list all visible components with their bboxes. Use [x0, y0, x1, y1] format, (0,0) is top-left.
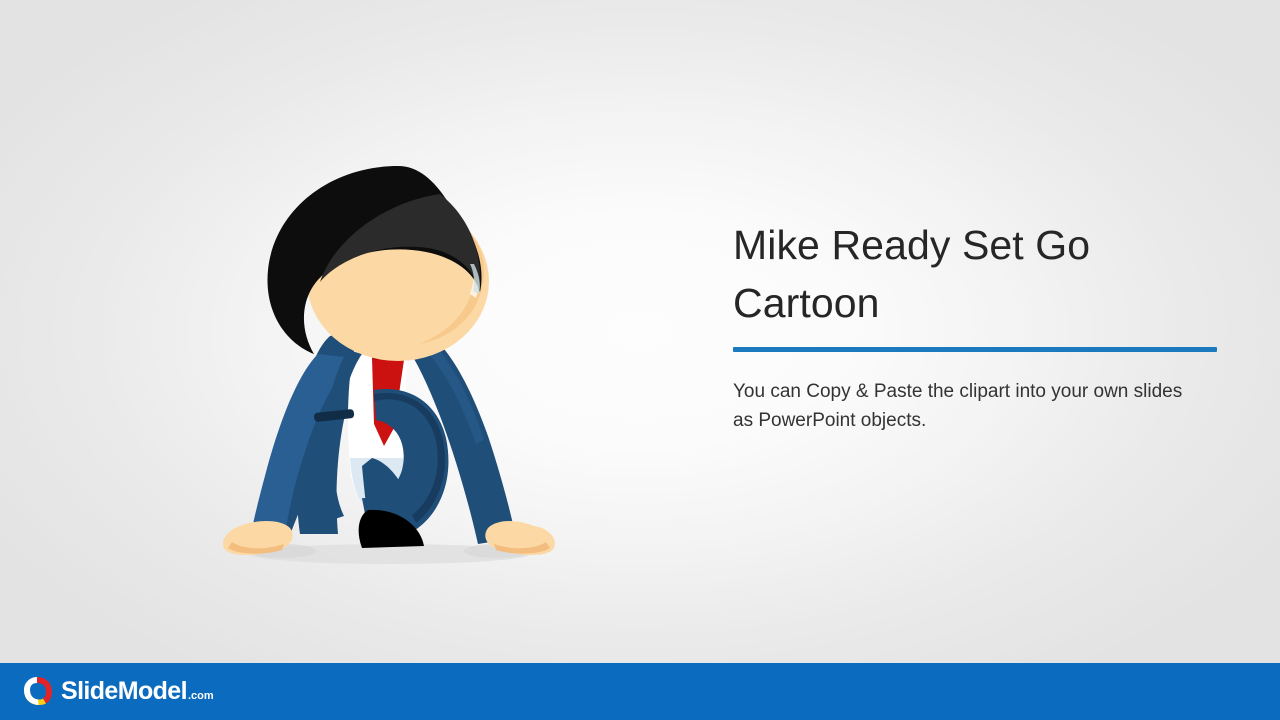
slide-body-text: You can Copy & Paste the clipart into yo… [733, 377, 1203, 435]
footer-bar: SlideModel.com [0, 663, 1280, 720]
page-title: Mike Ready Set Go Cartoon [733, 216, 1223, 332]
slidemodel-logo[interactable]: SlideModel.com [22, 675, 214, 707]
slide-canvas: Mike Ready Set Go Cartoon You can Copy &… [0, 0, 1280, 720]
businessman-runner-illustration [222, 158, 558, 570]
slidemodel-logo-mark [22, 675, 54, 707]
slidemodel-wordmark: SlideModel.com [61, 677, 214, 706]
logo-tld-text: .com [188, 690, 214, 702]
text-block: Mike Ready Set Go Cartoon You can Copy &… [733, 216, 1223, 435]
title-divider [733, 347, 1217, 352]
logo-name-text: SlideModel [61, 677, 187, 706]
